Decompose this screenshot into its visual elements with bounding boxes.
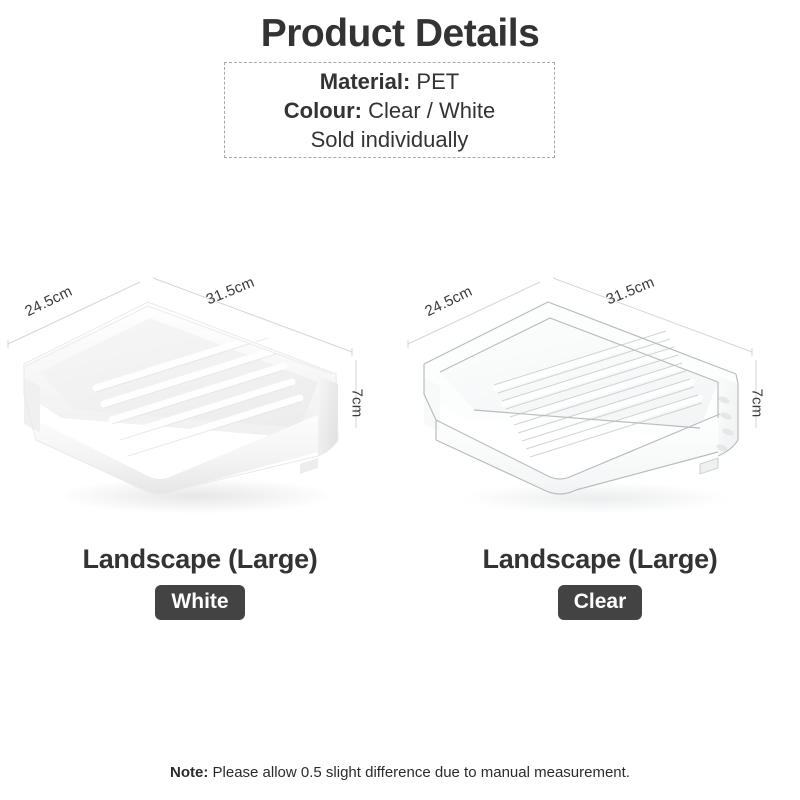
spec-material-label: Material: (320, 69, 410, 94)
product-name: Landscape (Large) (0, 542, 400, 576)
product-image-white: 24.5cm 31.5cm 7cm (0, 268, 400, 530)
spec-material: Material: PET (320, 67, 459, 96)
spec-colour: Colour: Clear / White (284, 96, 495, 125)
dimension-height-label: 7cm (349, 389, 366, 418)
specification-box: Material: PET Colour: Clear / White Sold… (224, 62, 555, 158)
page-title: Product Details (0, 10, 800, 58)
footer-note: Note: Please allow 0.5 slight difference… (0, 762, 800, 784)
spec-sold-individually: Sold individually (311, 125, 469, 154)
spec-material-value: PET (410, 69, 459, 94)
spec-colour-value: Clear / White (362, 98, 495, 123)
product-caption-clear: Landscape (Large) Clear (400, 542, 800, 620)
spec-colour-label: Colour: (284, 98, 362, 123)
product-card-white: 24.5cm 31.5cm 7cm Landscape (Large) Whit… (0, 268, 400, 628)
product-image-clear: 24.5cm 31.5cm 7cm (400, 268, 800, 530)
footer-note-text: Please allow 0.5 slight difference due t… (208, 764, 630, 781)
clear-tray-illustration (400, 268, 800, 530)
product-gallery: 24.5cm 31.5cm 7cm Landscape (Large) Whit… (0, 268, 800, 628)
white-tray-illustration (0, 268, 400, 530)
product-name: Landscape (Large) (400, 542, 800, 576)
variant-badge: Clear (558, 585, 643, 620)
variant-badge: White (155, 585, 244, 620)
drop-shadow (462, 482, 730, 514)
product-caption-white: Landscape (Large) White (0, 542, 400, 620)
product-card-clear: 24.5cm 31.5cm 7cm Landscape (Large) Clea… (400, 268, 800, 628)
dimension-height-label: 7cm (749, 389, 766, 418)
footer-note-label: Note: (170, 764, 208, 781)
